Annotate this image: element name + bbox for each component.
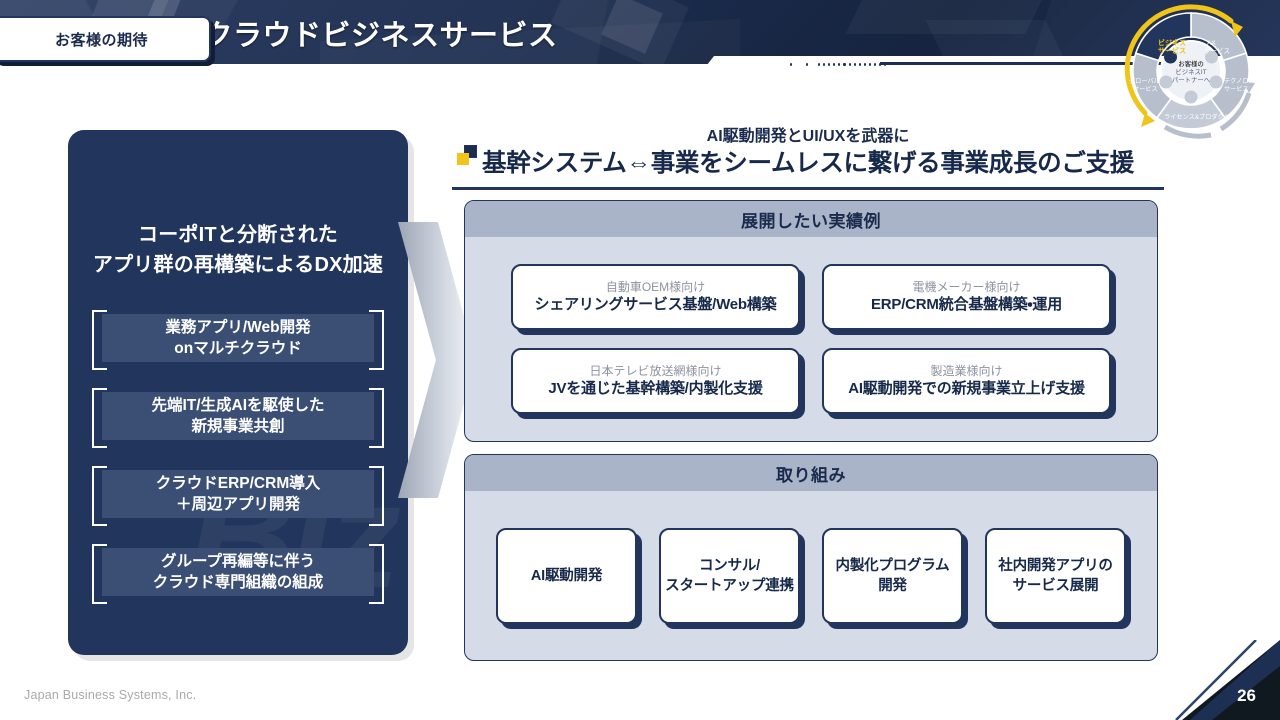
action-card-line1: 内製化プログラム xyxy=(836,556,950,576)
main-subtitle: AI駆動開発とUI/UXを武器に xyxy=(452,126,1164,148)
action-card-line1: AI駆動開発 xyxy=(531,566,602,586)
list-item-line1: グループ再編等に伴う xyxy=(161,551,315,572)
page-corner-shape xyxy=(1160,640,1280,720)
wheel-segment-label: グローバル xyxy=(1129,77,1160,85)
list-item-text: 業務アプリ/Web開発 onマルチクラウド xyxy=(92,310,384,366)
main-heading-rule xyxy=(452,187,1164,190)
list-item-line2: ＋周辺アプリ開発 xyxy=(176,494,300,515)
list-item-text: クラウドERP/CRM導入 ＋周辺アプリ開発 xyxy=(92,466,384,522)
wheel-segment-label: サービス xyxy=(1224,85,1249,93)
action-card[interactable]: 内製化プログラム 開発 xyxy=(822,528,963,624)
list-item-text: グループ再編等に伴う クラウド専門組織の組成 xyxy=(92,544,384,600)
case-card[interactable]: 自動車OEM様向け シェアリングサービス基盤/Web構築 xyxy=(511,264,800,330)
case-card-title: ERP/CRM統合基盤構築・運用 xyxy=(871,295,1062,315)
wheel-center-label: パートナーへ xyxy=(1172,76,1211,84)
action-card[interactable]: コンサル/ スタートアップ連携 xyxy=(659,528,800,624)
wheel-segment-label: サービス xyxy=(1158,46,1186,55)
cases-card-grid: 自動車OEM様向け シェアリングサービス基盤/Web構築 電機メーカー様向け E… xyxy=(465,237,1157,441)
action-card[interactable]: AI駆動開発 xyxy=(496,528,637,624)
actions-section: 取り組み AI駆動開発 コンサル/ スタートアップ連携 内製化プログラム 開発 xyxy=(464,454,1158,661)
cases-section-heading: 展開したい実績例 xyxy=(465,201,1157,237)
wheel-segment-label: サービス xyxy=(1204,46,1230,55)
wheel-segment-label: AX xyxy=(1207,40,1216,47)
action-card-line2: スタートアップ連携 xyxy=(665,576,794,596)
customer-expectation-tab-label: お客様の期待 xyxy=(55,29,148,50)
cases-section: 展開したい実績例 自動車OEM様向け シェアリングサービス基盤/Web構築 電機… xyxy=(464,200,1158,442)
case-card[interactable]: 日本テレビ放送網様向け JVを通じた基幹構築/内製化支援 xyxy=(511,348,800,414)
square-accent-icon xyxy=(456,144,478,166)
case-card-title: AI駆動開発での新規事業立上げ支援 xyxy=(848,379,1085,399)
customer-expectation-panel: Biz コーポITと分断された アプリ群の再構築によるDX加速 業務アプリ/We… xyxy=(68,130,408,655)
header-dotted-line xyxy=(790,62,886,66)
case-card-subtitle: 自動車OEM様向け xyxy=(606,279,705,295)
action-card-line2: 開発 xyxy=(836,576,950,596)
list-item-line1: 先端IT/生成AIを駆使した xyxy=(151,395,324,416)
list-item-line2: クラウド専門組織の組成 xyxy=(153,572,324,593)
case-card-subtitle: 電機メーカー様向け xyxy=(912,279,1020,295)
list-item[interactable]: クラウドERP/CRM導入 ＋周辺アプリ開発 xyxy=(92,466,384,522)
customer-expectation-tab[interactable]: お客様の期待 xyxy=(0,16,211,62)
case-card-subtitle: 製造業様向け xyxy=(930,363,1002,379)
service-wheel-diagram: ビジネス サービス AX サービス テクノロジー サービス ライセンス&プロダク… xyxy=(1116,0,1266,146)
case-card-subtitle: 日本テレビ放送網様向け xyxy=(589,363,721,379)
slide-canvas: 戦略事業：クラウドビジネスサービス xyxy=(0,0,1280,720)
actions-card-grid: AI駆動開発 コンサル/ スタートアップ連携 内製化プログラム 開発 社内開発ア… xyxy=(465,491,1157,660)
case-card-title: シェアリングサービス基盤/Web構築 xyxy=(535,295,777,315)
action-card-line1: 社内開発アプリの xyxy=(998,556,1112,576)
left-panel-heading: コーポITと分断された アプリ群の再構築によるDX加速 xyxy=(68,220,408,280)
case-card-title: JVを通じた基幹構築/内製化支援 xyxy=(548,379,762,399)
left-panel-heading-line1: コーポITと分断された xyxy=(68,220,408,250)
list-item[interactable]: 業務アプリ/Web開発 onマルチクラウド xyxy=(92,310,384,366)
list-item-line1: 業務アプリ/Web開発 xyxy=(165,317,310,338)
list-item[interactable]: 先端IT/生成AIを駆使した 新規事業共創 xyxy=(92,388,384,444)
list-item-line2: 新規事業共創 xyxy=(191,416,284,437)
expectation-list: 業務アプリ/Web開発 onマルチクラウド 先端IT/生成AIを駆使した 新規事… xyxy=(92,310,384,622)
wheel-center-label: お客様の xyxy=(1178,59,1204,68)
page-number: 26 xyxy=(1237,686,1256,706)
wheel-segment-label: テクノロジー xyxy=(1224,78,1261,85)
actions-section-heading: 取り組み xyxy=(465,455,1157,491)
action-card[interactable]: 社内開発アプリの サービス展開 xyxy=(985,528,1126,624)
wheel-center-label: ビジネスIT xyxy=(1175,67,1206,76)
list-item-line2: onマルチクラウド xyxy=(174,338,301,359)
case-card[interactable]: 電機メーカー様向け ERP/CRM統合基盤構築・運用 xyxy=(822,264,1111,330)
wheel-segment-label: ビジネス xyxy=(1158,38,1186,47)
list-item[interactable]: グループ再編等に伴う クラウド専門組織の組成 xyxy=(92,544,384,600)
case-card[interactable]: 製造業様向け AI駆動開発での新規事業立上げ支援 xyxy=(822,348,1111,414)
list-item-line1: クラウドERP/CRM導入 xyxy=(156,473,320,494)
action-card-line2: サービス展開 xyxy=(998,576,1112,596)
main-heading-block: AI駆動開発とUI/UXを武器に 基幹システム⇔事業をシームレスに繋げる事業成長… xyxy=(452,126,1164,180)
list-item-text: 先端IT/生成AIを駆使した 新規事業共創 xyxy=(92,388,384,444)
wheel-segment-label: ライセンス&プロダクト xyxy=(1164,113,1230,121)
wheel-segment-label: サービス xyxy=(1133,85,1158,93)
action-card-line1: コンサル/ xyxy=(665,556,794,576)
main-title: 基幹システム⇔事業をシームレスに繋げる事業成長のご支援 xyxy=(452,148,1164,180)
left-panel-heading-line2: アプリ群の再構築によるDX加速 xyxy=(68,250,408,280)
footer-company: Japan Business Systems, Inc. xyxy=(24,688,196,702)
